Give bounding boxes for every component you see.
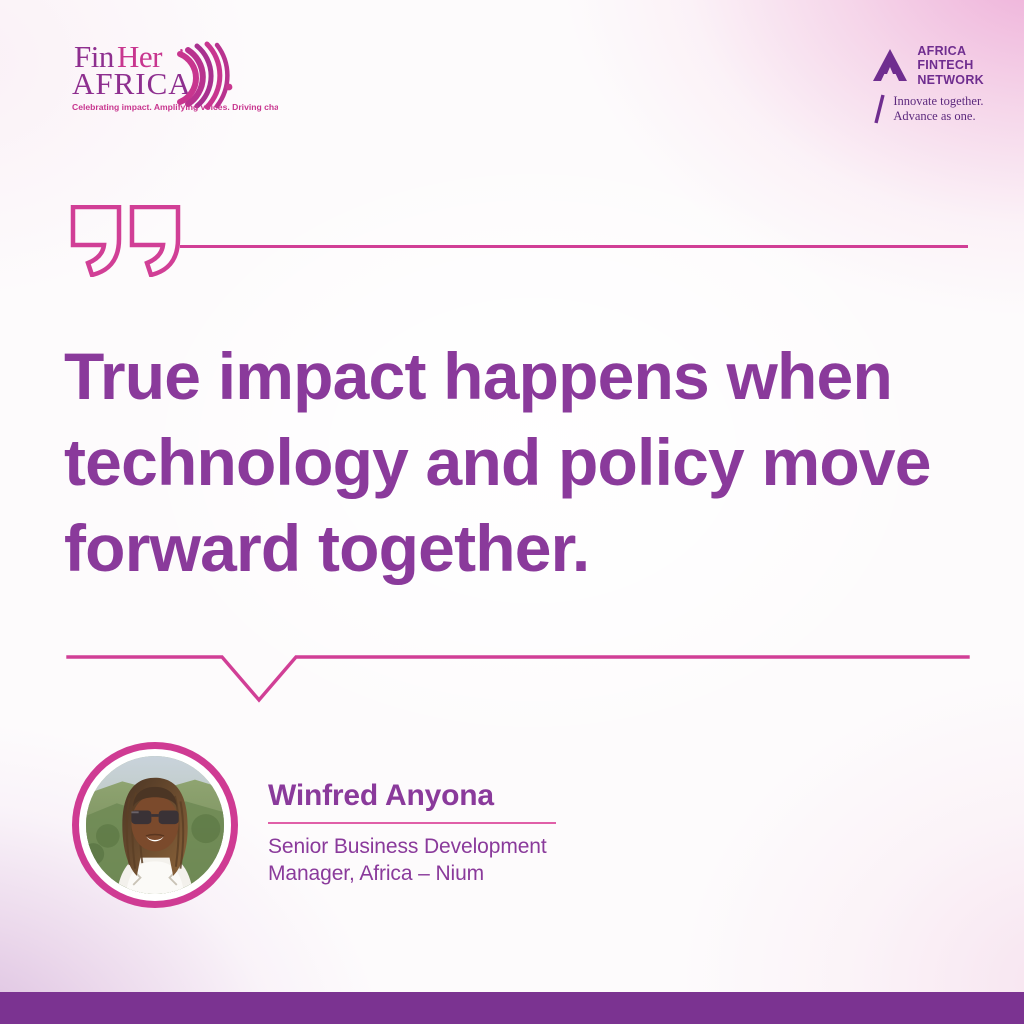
- afn-tagline-line2: Advance as one.: [893, 109, 983, 124]
- finher-tagline: Celebrating impact. Amplifying voices. D…: [72, 102, 278, 112]
- quote-text: True impact happens when technology and …: [64, 333, 964, 591]
- avatar: [72, 742, 238, 908]
- speaker-name-divider: [268, 822, 556, 824]
- svg-text:AFRICA: AFRICA: [72, 66, 192, 101]
- afn-wordmark: AFRICA FINTECH NETWORK: [917, 44, 984, 87]
- afn-word-line1: AFRICA: [917, 44, 984, 58]
- afn-word-line3: NETWORK: [917, 73, 984, 87]
- afn-tagline: Innovate together. Advance as one.: [893, 94, 983, 124]
- speaker-name: Winfred Anyona: [268, 780, 698, 812]
- avatar-photo: [86, 756, 224, 894]
- speaker-block: Winfred Anyona Senior Business Developme…: [72, 742, 712, 918]
- afn-tagline-line1: Innovate together.: [893, 94, 983, 109]
- afn-word-line2: FINTECH: [917, 58, 984, 72]
- quote-mark-icon: [70, 205, 188, 277]
- quote-top-divider: [180, 245, 968, 248]
- speaker-title: Senior Business Development Manager, Afr…: [268, 833, 698, 887]
- bottom-bar: [0, 992, 1024, 1024]
- finher-africa-logo: Fin Her ’ AFRICA Celebrating impact. Amp…: [58, 36, 278, 116]
- speaker-meta: Winfred Anyona Senior Business Developme…: [268, 780, 698, 887]
- afn-slash-icon: [874, 94, 885, 124]
- quote-line-1: True impact happens when: [64, 333, 964, 419]
- quote-card: Fin Her ’ AFRICA Celebrating impact. Amp…: [0, 0, 1024, 1024]
- speaker-title-line2: Manager, Africa – Nium: [268, 860, 698, 887]
- quote-bottom-divider: [0, 640, 1024, 720]
- quote-line-3: forward together.: [64, 505, 964, 591]
- afn-triangle-mark: [872, 48, 908, 82]
- speaker-title-line1: Senior Business Development: [268, 833, 698, 860]
- quote-line-2: technology and policy move: [64, 419, 964, 505]
- africa-fintech-network-logo: AFRICA FINTECH NETWORK Innovate together…: [872, 44, 984, 124]
